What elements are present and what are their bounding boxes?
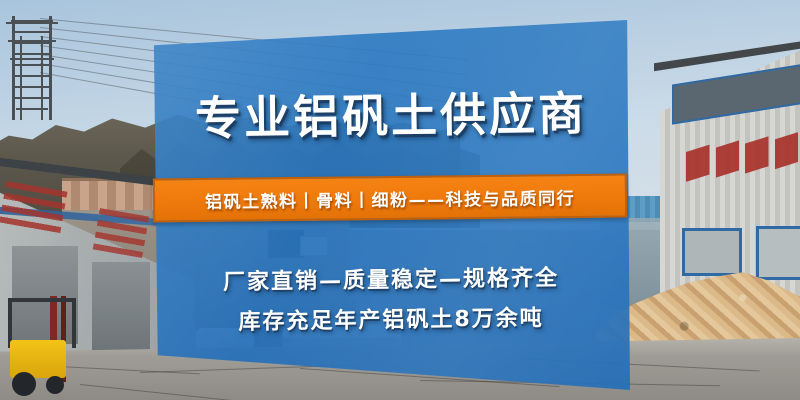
- yellow-forklift: [4, 290, 80, 394]
- banner-image: 专业铝矾土供应商 铝矾土熟料丨骨料丨细粉——科技与品质同行 厂家直销—质量稳定—…: [0, 0, 800, 400]
- subtitle-line-2: 库存充足年产铝矾土8万余吨: [152, 299, 630, 337]
- ribbon-text: 铝矾土熟料丨骨料丨细粉——科技与品质同行: [205, 184, 575, 213]
- left-factory-door-2: [92, 262, 150, 354]
- subtitle-line-1: 厂家直销—质量稳定—规格齐全: [152, 259, 630, 297]
- right-warehouse-window-1: [682, 228, 742, 276]
- forklift-front-wheel: [12, 372, 36, 396]
- left-wall-red-text-2: [93, 208, 150, 258]
- forklift-rear-wheel: [46, 376, 64, 394]
- orange-ribbon: 铝矾土熟料丨骨料丨细粉——科技与品质同行: [153, 174, 627, 223]
- transmission-tower: [6, 6, 58, 124]
- right-warehouse-window-2: [756, 226, 800, 280]
- headline-text: 专业铝矾土供应商: [152, 77, 631, 149]
